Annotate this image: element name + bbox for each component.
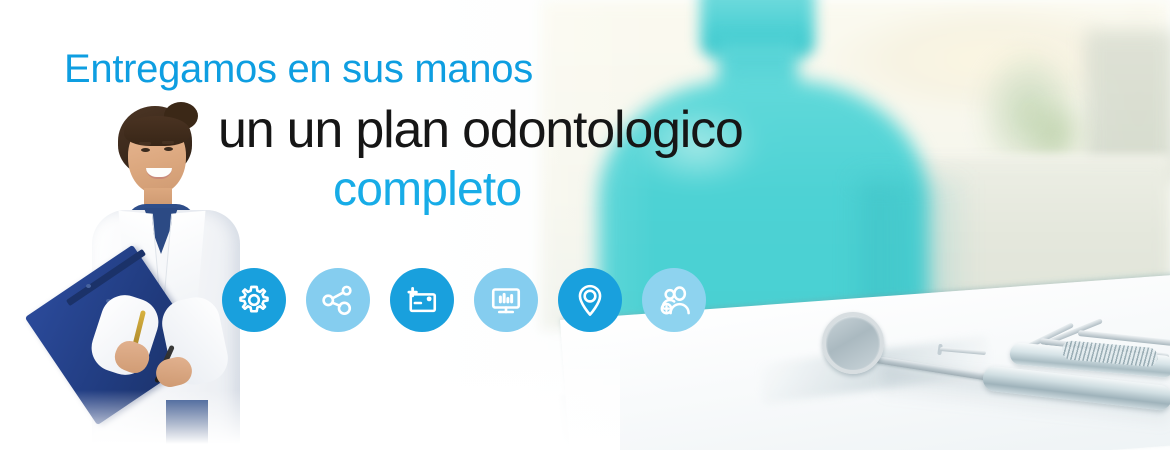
monitor-chart-icon: [488, 282, 524, 318]
dental-mirror-icon: [822, 312, 884, 374]
dentist-bottom-fade: [40, 390, 255, 450]
dentist-eye-left: [141, 148, 150, 152]
promo-banner: Entregamos en sus manos un un plan odont…: [0, 0, 1170, 450]
feature-icon-add-card[interactable]: [390, 268, 454, 332]
location-pin-icon: [572, 282, 608, 318]
add-users-icon: [656, 282, 692, 318]
feature-icon-gear[interactable]: [222, 268, 286, 332]
headline-line-2: un un plan odontologico: [218, 100, 743, 160]
headline-line-1: Entregamos en sus manos: [64, 47, 533, 92]
feature-icon-location[interactable]: [558, 268, 622, 332]
dentist-eyebrow-right: [162, 141, 174, 144]
dentist-eye-right: [164, 147, 173, 151]
dentist-eyebrow-left: [139, 142, 151, 145]
add-card-icon: [404, 282, 440, 318]
feature-icon-add-users[interactable]: [642, 268, 706, 332]
share-nodes-icon: [320, 282, 356, 318]
feature-icon-row: [222, 268, 706, 332]
feature-icon-monitor-chart[interactable]: [474, 268, 538, 332]
headline-line-3: completo: [333, 162, 521, 217]
feature-icon-share[interactable]: [306, 268, 370, 332]
clipboard-rivet-left: [86, 284, 91, 288]
dentist-hair-front: [124, 116, 190, 146]
gear-icon: [236, 282, 272, 318]
